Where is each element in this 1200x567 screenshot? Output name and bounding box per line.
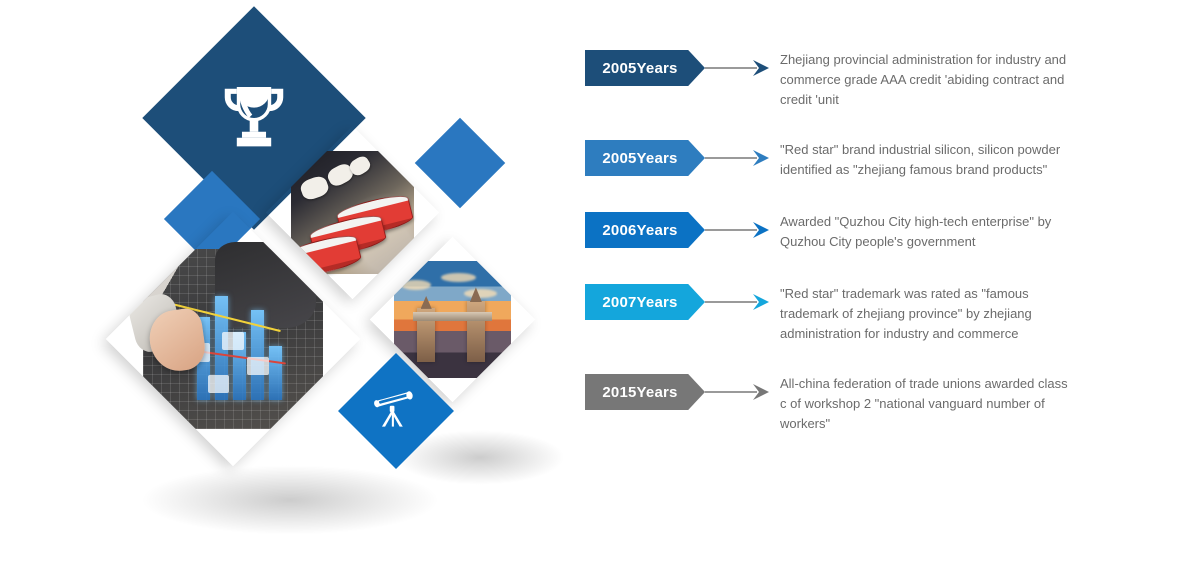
connector-line <box>705 391 757 393</box>
entry-description: "Red star" brand industrial silicon, sil… <box>780 140 1075 180</box>
connector-line <box>705 229 757 231</box>
collage-shadow-lower <box>140 465 440 535</box>
arrow-right-icon <box>751 148 771 168</box>
arrow-right-icon <box>751 220 771 240</box>
timeline-row: 2007Years "Red star" trademark was rated… <box>585 284 1185 344</box>
year-badge-label: 2005Years <box>602 150 677 167</box>
diamond-collage <box>0 0 560 567</box>
year-badge-wrap: 2007Years <box>585 284 780 320</box>
year-badge[interactable]: 2006Years <box>585 212 705 248</box>
year-badge[interactable]: 2005Years <box>585 50 705 86</box>
year-badge-wrap: 2005Years <box>585 140 780 176</box>
honors-timeline: 2005Years Zhejiang provincial administra… <box>585 50 1185 434</box>
year-badge-label: 2005Years <box>602 60 677 77</box>
entry-description: All-china federation of trade unions awa… <box>780 374 1075 434</box>
page-root: 2005Years Zhejiang provincial administra… <box>0 0 1200 567</box>
entry-description: Zhejiang provincial administration for i… <box>780 50 1075 110</box>
year-badge[interactable]: 2015Years <box>585 374 705 410</box>
timeline-row: 2015Years All-china federation of trade … <box>585 374 1185 434</box>
connector-line <box>705 301 757 303</box>
timeline-row: 2005Years "Red star" brand industrial si… <box>585 140 1185 180</box>
telescope-icon <box>370 385 422 437</box>
year-badge-wrap: 2015Years <box>585 374 780 410</box>
year-badge-label: 2015Years <box>602 384 677 401</box>
connector-line <box>705 157 757 159</box>
trophy-icon <box>211 75 297 161</box>
year-badge-wrap: 2005Years <box>585 50 780 86</box>
year-badge-label: 2006Years <box>602 222 677 239</box>
timeline-row: 2005Years Zhejiang provincial administra… <box>585 50 1185 110</box>
connector-line <box>705 67 757 69</box>
arrow-right-icon <box>751 292 771 312</box>
timeline-row: 2006Years Awarded "Quzhou City high-tech… <box>585 212 1185 252</box>
year-badge[interactable]: 2005Years <box>585 140 705 176</box>
entry-description: "Red star" trademark was rated as "famou… <box>780 284 1075 344</box>
arrow-right-icon <box>751 382 771 402</box>
year-badge-label: 2007Years <box>602 294 677 311</box>
entry-description: Awarded "Quzhou City high-tech enterpris… <box>780 212 1075 252</box>
arrow-right-icon <box>751 58 771 78</box>
accent-diamond-right <box>415 118 506 209</box>
year-badge-wrap: 2006Years <box>585 212 780 248</box>
year-badge[interactable]: 2007Years <box>585 284 705 320</box>
